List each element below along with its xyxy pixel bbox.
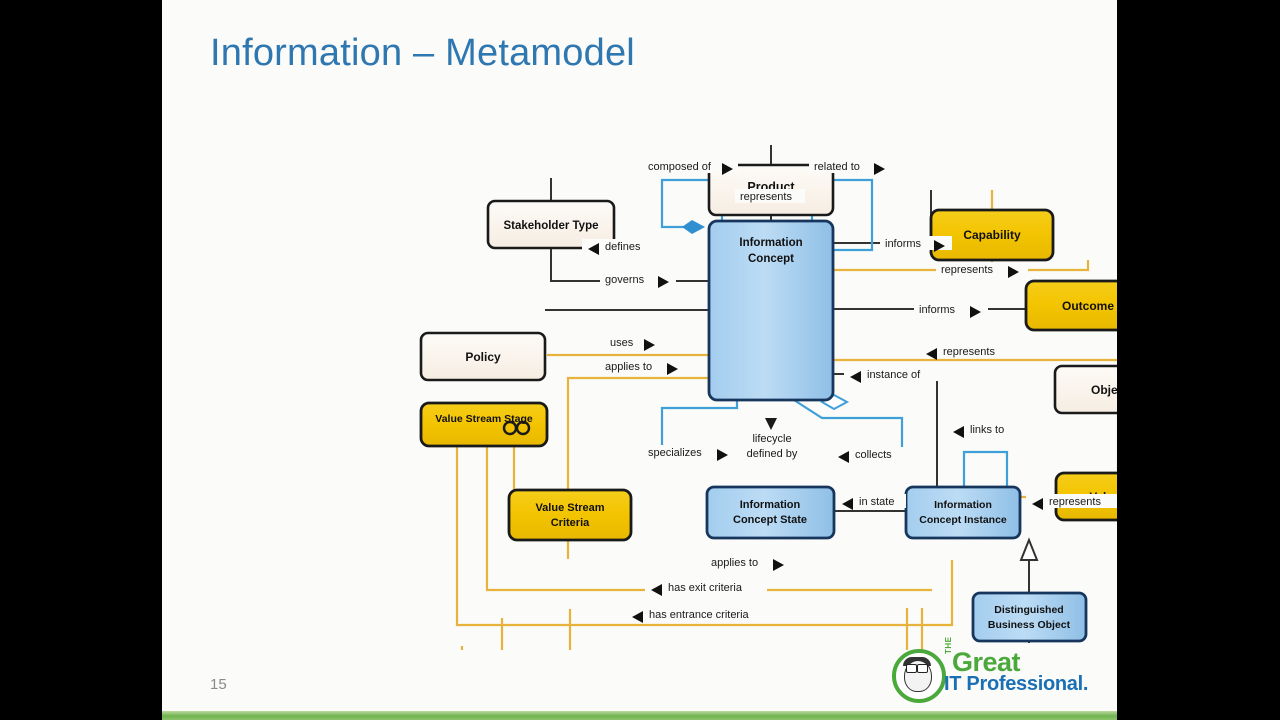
svg-text:has entrance criteria: has entrance criteria <box>649 609 750 621</box>
node-value-stream-stage[interactable]: Value Stream Stage <box>421 403 547 446</box>
edge-label-uses: uses <box>605 335 661 351</box>
edge-label-links-to: links to <box>947 422 1019 438</box>
svg-text:instance of: instance of <box>867 369 921 381</box>
svg-text:applies to: applies to <box>605 361 652 373</box>
svg-text:defined by: defined by <box>747 448 798 460</box>
edge-label-related-to: related to <box>809 159 893 175</box>
edge-label-informs-capability: informs <box>880 236 952 252</box>
svg-text:informs: informs <box>919 304 956 316</box>
metamodel-diagram: Product Stakeholder Type Policy Value St… <box>162 70 1117 650</box>
edge-label-represents-product: represents <box>735 189 805 203</box>
svg-text:represents: represents <box>740 191 792 203</box>
node-policy-label: Policy <box>465 350 501 364</box>
node-objective-label: Objective <box>1091 383 1117 397</box>
svg-text:represents: represents <box>1049 496 1101 508</box>
svg-text:governs: governs <box>605 274 645 286</box>
node-outcome-label: Outcome <box>1062 299 1114 313</box>
edge-label-represents-instance: represents <box>1026 494 1117 510</box>
svg-text:represents: represents <box>943 346 995 358</box>
edge-label-represents-outcome: represents <box>936 262 1028 278</box>
node-capability[interactable]: Capability <box>931 210 1053 260</box>
svg-text:links to: links to <box>970 424 1004 436</box>
node-group: Product Stakeholder Type Policy Value St… <box>421 165 1117 641</box>
edge-label-in-state: in state <box>836 494 906 510</box>
edge-label-applies-to-state: applies to <box>706 555 794 571</box>
edge-label-composed-of: composed of <box>642 159 738 175</box>
edge-label-informs-objective: informs <box>914 302 988 318</box>
node-stakeholder-type-label: Stakeholder Type <box>503 220 598 232</box>
slide-canvas: Information – Metamodel <box>162 0 1117 720</box>
generalization-triangle-icon <box>1021 540 1037 560</box>
svg-text:uses: uses <box>610 337 634 349</box>
logo-mascot-icon <box>892 649 946 703</box>
logo-it-professional-text: IT Professional. <box>944 673 1088 696</box>
footer-accent-bar <box>162 711 1117 720</box>
svg-text:specializes: specializes <box>648 447 702 459</box>
video-frame: Information – Metamodel <box>0 0 1280 720</box>
svg-text:defines: defines <box>605 241 641 253</box>
node-policy[interactable]: Policy <box>421 333 545 380</box>
letterbox-left <box>0 0 162 720</box>
logo-glasses-left-icon <box>906 664 917 673</box>
svg-text:informs: informs <box>885 238 922 250</box>
node-objective[interactable]: Objective <box>1055 366 1117 413</box>
edge-label-lifecycle-defined-by: lifecycle defined by <box>738 431 806 461</box>
edge-label-governs: governs <box>600 272 676 288</box>
logo-glasses-right-icon <box>917 664 928 673</box>
svg-text:collects: collects <box>855 449 892 461</box>
letterbox-right <box>1117 0 1280 720</box>
node-capability-label: Capability <box>963 228 1021 242</box>
svg-text:has exit criteria: has exit criteria <box>668 582 743 594</box>
svg-text:in state: in state <box>859 496 894 508</box>
edge-label-instance-of: instance of <box>844 367 940 383</box>
svg-text:applies to: applies to <box>711 557 758 569</box>
node-information-concept[interactable]: InformationConcept <box>709 221 833 400</box>
edge-label-has-exit-criteria: has exit criteria <box>645 580 767 596</box>
edge-label-collects: collects <box>832 447 910 463</box>
edge-label-specializes: specializes <box>643 445 735 461</box>
node-distinguished-business-object[interactable]: DistinguishedBusiness Object <box>973 593 1086 641</box>
brand-logo: THE Great IT Professional. <box>892 645 1092 701</box>
node-value-stream-criteria[interactable]: Value StreamCriteria <box>509 490 631 540</box>
page-title: Information – Metamodel <box>210 32 635 75</box>
svg-text:related to: related to <box>814 161 860 173</box>
node-information-concept-state[interactable]: InformationConcept State <box>707 487 834 538</box>
svg-text:represents: represents <box>941 264 993 276</box>
edge-label-applies-to-concept: applies to <box>600 359 684 375</box>
slide-page-number: 15 <box>210 676 227 693</box>
aggregation-diamond-icon <box>682 220 705 234</box>
edge-label-represents-value-item: represents <box>920 344 1020 360</box>
svg-text:composed of: composed of <box>648 161 712 173</box>
node-outcome[interactable]: Outcome <box>1026 281 1117 330</box>
svg-text:lifecycle: lifecycle <box>752 433 791 445</box>
node-information-concept-instance[interactable]: InformationConcept Instance <box>906 487 1020 538</box>
edge-label-defines: defines <box>582 239 652 255</box>
edge-label-has-entrance-criteria: has entrance criteria <box>626 607 782 623</box>
